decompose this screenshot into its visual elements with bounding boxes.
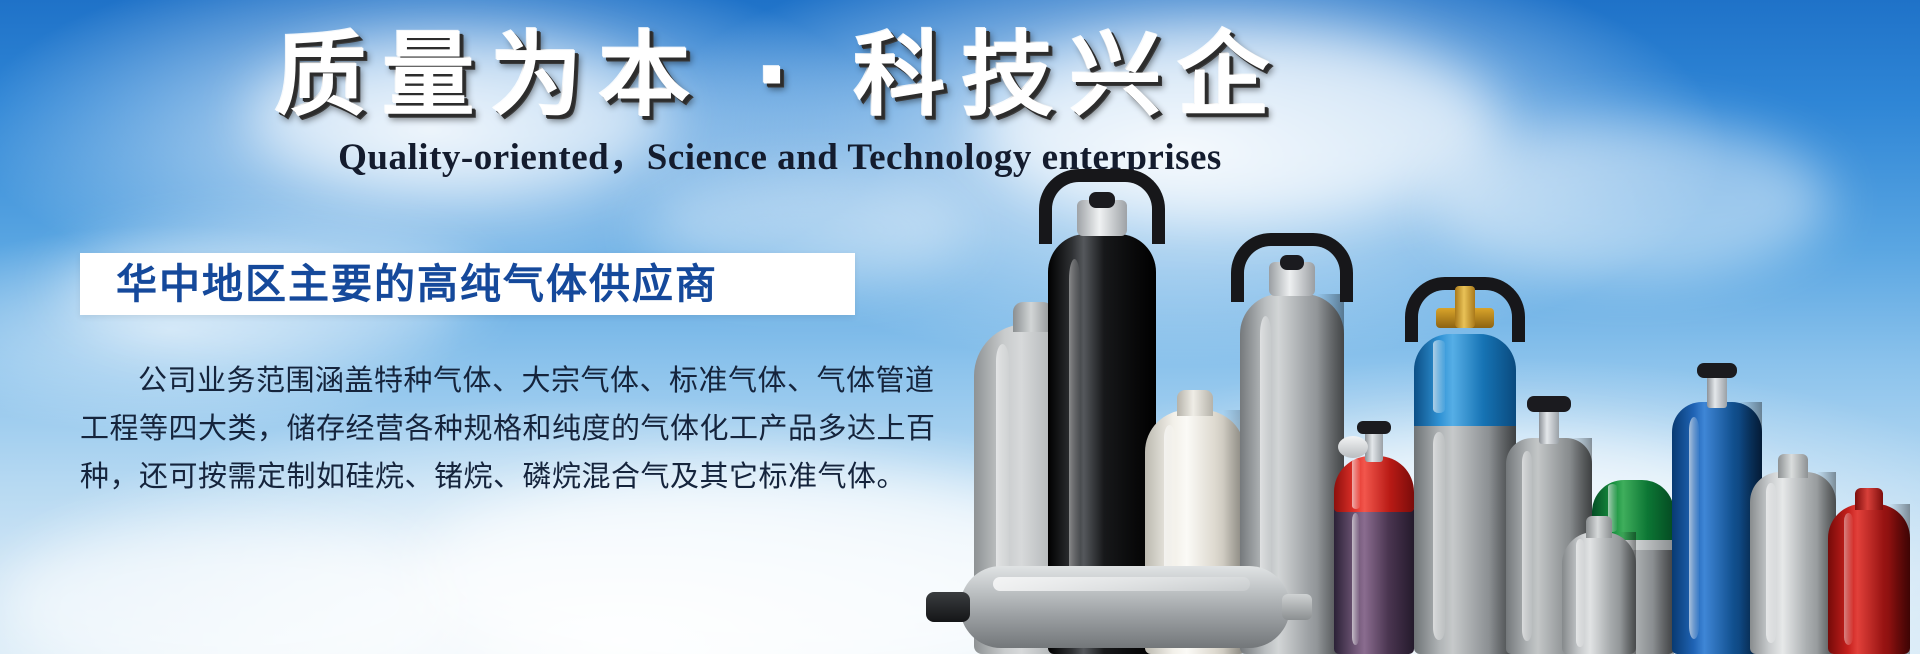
- cloud-decoration: [0, 520, 460, 654]
- body-line: 工程等四大类，储存经营各种规格和纯度的气体化工产品多达上百: [80, 404, 870, 452]
- cylinder-red-right: [1828, 476, 1910, 654]
- cylinder-valve: [926, 592, 970, 622]
- callout-text: 华中地区主要的高纯气体供应商: [80, 253, 718, 315]
- gas-cylinder-group-image: [930, 0, 1920, 654]
- body-line: 种，还可按需定制如硅烷、锗烷、磷烷混合气及其它标准气体。: [80, 452, 870, 500]
- cylinder-red-purple: [1334, 422, 1414, 654]
- callout-box: 华中地区主要的高纯气体供应商: [80, 253, 855, 315]
- cylinder-blue-tall-right: [1672, 354, 1762, 654]
- banner-body-copy: 公司业务范围涵盖特种气体、大宗气体、标准气体、气体管道 工程等四大类，储存经营各…: [80, 356, 870, 500]
- cylinder-aluminium-small: [1562, 506, 1636, 654]
- cylinder-aluminium-tall: [1750, 444, 1836, 654]
- cylinder-horizontal-grey: [960, 566, 1290, 648]
- cylinder-knob: [1697, 363, 1737, 378]
- cylinder-blue-grey-valve: [1414, 276, 1516, 654]
- body-line: 公司业务范围涵盖特种气体、大宗气体、标准气体、气体管道: [80, 356, 870, 404]
- pressure-gauge-icon: [1338, 436, 1368, 458]
- cylinder-knob: [1357, 421, 1391, 434]
- cylinder-knob: [1527, 396, 1571, 412]
- promo-banner: 质量为本 · 科技兴企 Quality-oriented，Science and…: [0, 0, 1920, 654]
